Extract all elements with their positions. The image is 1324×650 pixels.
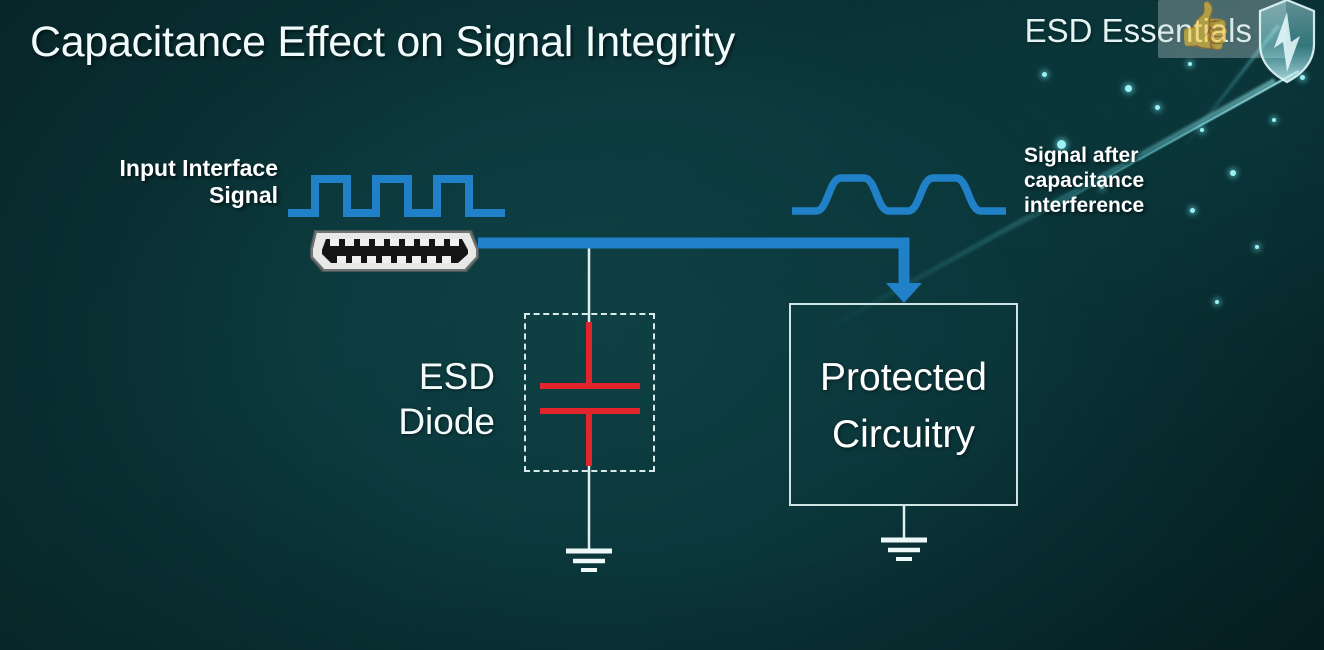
input-signal-label-line2: Signal <box>0 182 278 209</box>
glow-dot <box>1200 128 1204 132</box>
glow-dot <box>1155 105 1160 110</box>
output-rounded-waveform <box>792 178 1006 211</box>
thumbs-up-watermark: 👍 <box>1158 0 1286 58</box>
output-signal-label-line1: Signal after <box>1024 144 1264 169</box>
glow-dot <box>1042 72 1047 77</box>
ground-symbol-circuitry <box>881 540 927 559</box>
protected-circuitry-label-line1: Protected <box>789 350 1018 407</box>
input-square-waveform <box>288 179 505 213</box>
input-signal-label: Input Interface Signal <box>0 155 278 209</box>
output-rounded-waveform-pulse3 <box>981 178 1006 211</box>
schematic-layer <box>0 0 1324 650</box>
ground-symbol-capacitor <box>566 551 612 570</box>
background-vignette <box>0 0 1324 650</box>
output-signal-label-line2: capacitance <box>1024 169 1264 194</box>
glow-dot <box>1188 62 1192 66</box>
blue-signal-arrowhead <box>886 283 922 303</box>
glow-dot <box>1125 85 1132 92</box>
hdmi-connector <box>310 230 479 272</box>
esd-diode-label: ESD Diode <box>330 354 495 444</box>
glow-dot <box>1272 118 1276 122</box>
esd-component-boundary <box>524 313 655 472</box>
glow-dot <box>1215 300 1219 304</box>
thumbs-up-icon: 👍 <box>1176 2 1233 48</box>
glow-dot <box>1255 245 1259 249</box>
esd-diode-label-line1: ESD <box>330 354 495 399</box>
protected-circuitry-label: Protected Circuitry <box>789 350 1018 463</box>
blue-signal-trace <box>478 243 904 288</box>
page-title: Capacitance Effect on Signal Integrity <box>30 18 735 67</box>
input-signal-label-line1: Input Interface <box>0 155 278 182</box>
protected-circuitry-label-line2: Circuitry <box>789 407 1018 464</box>
glow-dot <box>1300 75 1305 80</box>
output-signal-label-line3: interference <box>1024 194 1264 219</box>
slide-canvas: Capacitance Effect on Signal Integrity E… <box>0 0 1324 650</box>
esd-diode-label-line2: Diode <box>330 399 495 444</box>
output-signal-label: Signal after capacitance interference <box>1024 144 1264 218</box>
